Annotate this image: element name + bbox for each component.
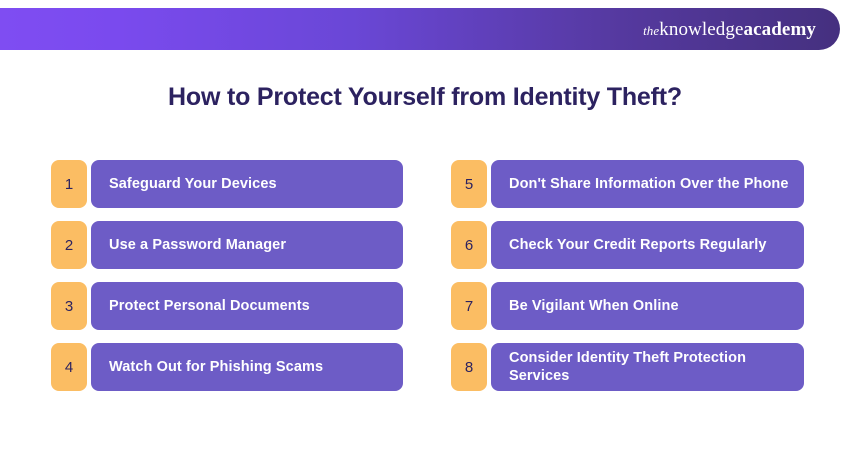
brand-logo-the: the [643,23,659,38]
tip-number-badge: 1 [51,160,87,208]
tips-column-left: 1 Safeguard Your Devices 2 Use a Passwor… [51,160,403,391]
tip-card[interactable]: Don't Share Information Over the Phone [491,160,804,208]
list-item[interactable]: 5 Don't Share Information Over the Phone [451,160,804,208]
list-item[interactable]: 1 Safeguard Your Devices [51,160,403,208]
tip-label: Check Your Credit Reports Regularly [509,236,777,254]
header-band: theknowledgeacademy [0,8,840,50]
tip-label: Protect Personal Documents [109,297,320,315]
tip-card[interactable]: Watch Out for Phishing Scams [91,343,403,391]
list-item[interactable]: 3 Protect Personal Documents [51,282,403,330]
tip-label: Watch Out for Phishing Scams [109,358,333,376]
brand-logo: theknowledgeacademy [643,20,816,39]
list-item[interactable]: 6 Check Your Credit Reports Regularly [451,221,804,269]
tip-number-badge: 4 [51,343,87,391]
tips-container: 1 Safeguard Your Devices 2 Use a Passwor… [0,160,850,391]
tip-label: Safeguard Your Devices [109,175,287,193]
tip-card[interactable]: Check Your Credit Reports Regularly [491,221,804,269]
brand-logo-academy: academy [744,19,816,40]
tips-column-right: 5 Don't Share Information Over the Phone… [451,160,804,391]
tip-number-badge: 2 [51,221,87,269]
tip-card[interactable]: Protect Personal Documents [91,282,403,330]
tip-card[interactable]: Be Vigilant When Online [491,282,804,330]
tip-card[interactable]: Use a Password Manager [91,221,403,269]
tip-label: Use a Password Manager [109,236,296,254]
tip-card[interactable]: Safeguard Your Devices [91,160,403,208]
tip-number-badge: 3 [51,282,87,330]
tip-number-badge: 8 [451,343,487,391]
page-title: How to Protect Yourself from Identity Th… [0,83,850,112]
list-item[interactable]: 7 Be Vigilant When Online [451,282,804,330]
tip-number-badge: 7 [451,282,487,330]
tip-number-badge: 5 [451,160,487,208]
tip-label: Don't Share Information Over the Phone [509,175,799,193]
tip-label: Consider Identity Theft Protection Servi… [509,349,804,385]
list-item[interactable]: 2 Use a Password Manager [51,221,403,269]
brand-logo-knowledge: knowledge [659,19,743,40]
tip-number-badge: 6 [451,221,487,269]
list-item[interactable]: 4 Watch Out for Phishing Scams [51,343,403,391]
tip-label: Be Vigilant When Online [509,297,689,315]
list-item[interactable]: 8 Consider Identity Theft Protection Ser… [451,343,804,391]
tip-card[interactable]: Consider Identity Theft Protection Servi… [491,343,804,391]
